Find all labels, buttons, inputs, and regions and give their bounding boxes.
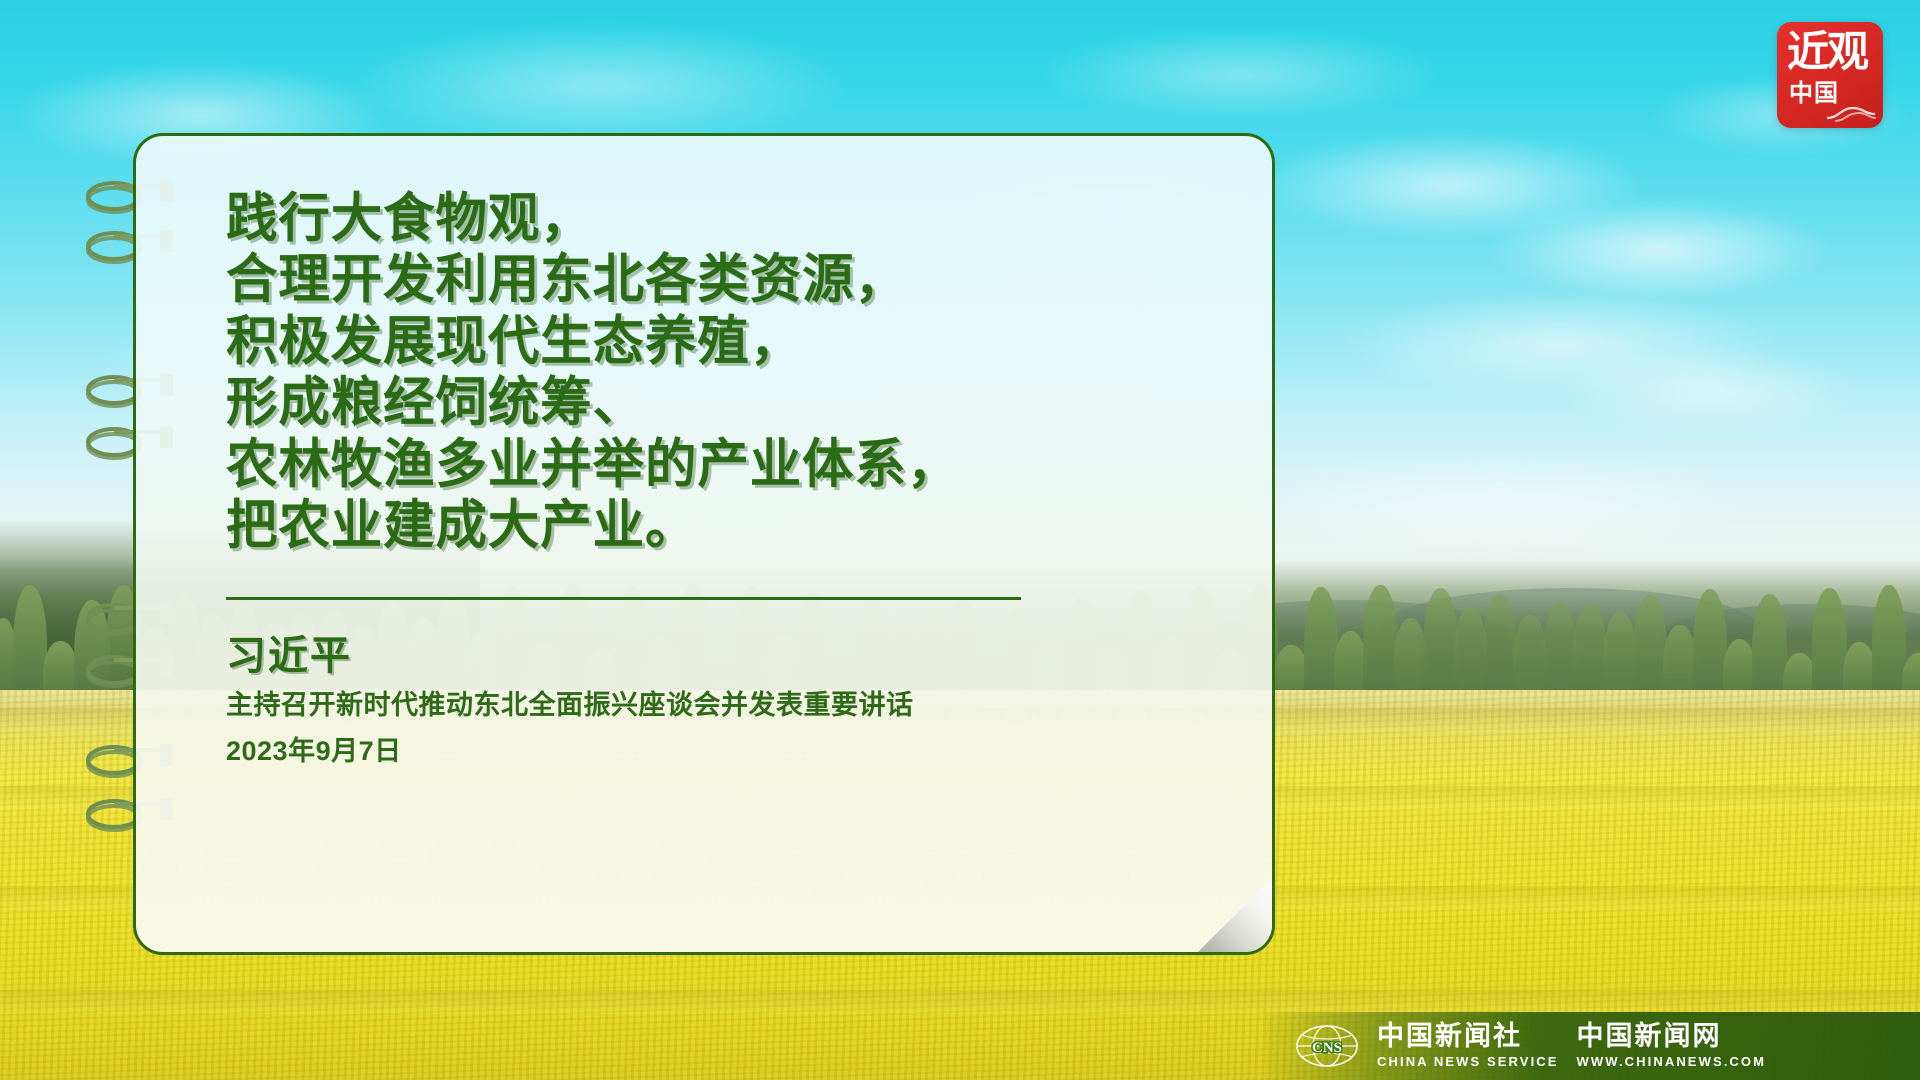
agency-name-cn: 中国新闻社 [1377,1022,1559,1050]
svg-text:CNS: CNS [1312,1040,1342,1056]
quote-block: 践行大食物观， 合理开发利用东北各类资源， 积极发展现代生态养殖， 形成粮经饲统… [226,188,1272,557]
quote-line: 合理开发利用东北各类资源， [226,249,1241,310]
site-block: 中国新闻网 WWW.CHINANEWS.COM [1577,1022,1767,1070]
speaker-name: 习近平 [226,634,1272,678]
cns-globe-icon: CNS [1295,1024,1359,1068]
quote-line: 农林牧渔多业并举的产业体系， [226,434,1241,495]
event-date: 2023年9月7日 [226,732,1272,770]
quote-line: 形成粮经饲统筹、 [226,372,1241,433]
attribution-block: 习近平 主持召开新时代推动东北全面振兴座谈会并发表重要讲话 2023年9月7日 [226,634,1272,771]
quote-card: 践行大食物观， 合理开发利用东北各类资源， 积极发展现代生态养殖， 形成粮经饲统… [133,133,1275,955]
field-band [0,990,1920,1014]
quote-line: 践行大食物观， [226,188,1241,249]
site-url: WWW.CHINANEWS.COM [1577,1054,1767,1070]
swirl-icon [1825,100,1877,122]
quote-line: 把农业建成大产业。 [226,495,1241,556]
quote-line: 积极发展现代生态养殖， [226,311,1241,372]
agency-block: 中国新闻社 CHINA NEWS SERVICE [1377,1022,1559,1070]
site-name-cn: 中国新闻网 [1577,1022,1767,1050]
agency-name-en: CHINA NEWS SERVICE [1377,1054,1559,1070]
logo-text-jin: 近观 [1787,32,1867,74]
event-description: 主持召开新时代推动东北全面振兴座谈会并发表重要讲话 [226,686,1272,724]
publisher-footer: CNS 中国新闻社 CHINA NEWS SERVICE 中国新闻网 WWW.C… [1265,1012,1920,1080]
attribution-divider [226,597,1021,600]
jinguan-zhongguo-logo[interactable]: 近观 中国 [1777,22,1883,128]
